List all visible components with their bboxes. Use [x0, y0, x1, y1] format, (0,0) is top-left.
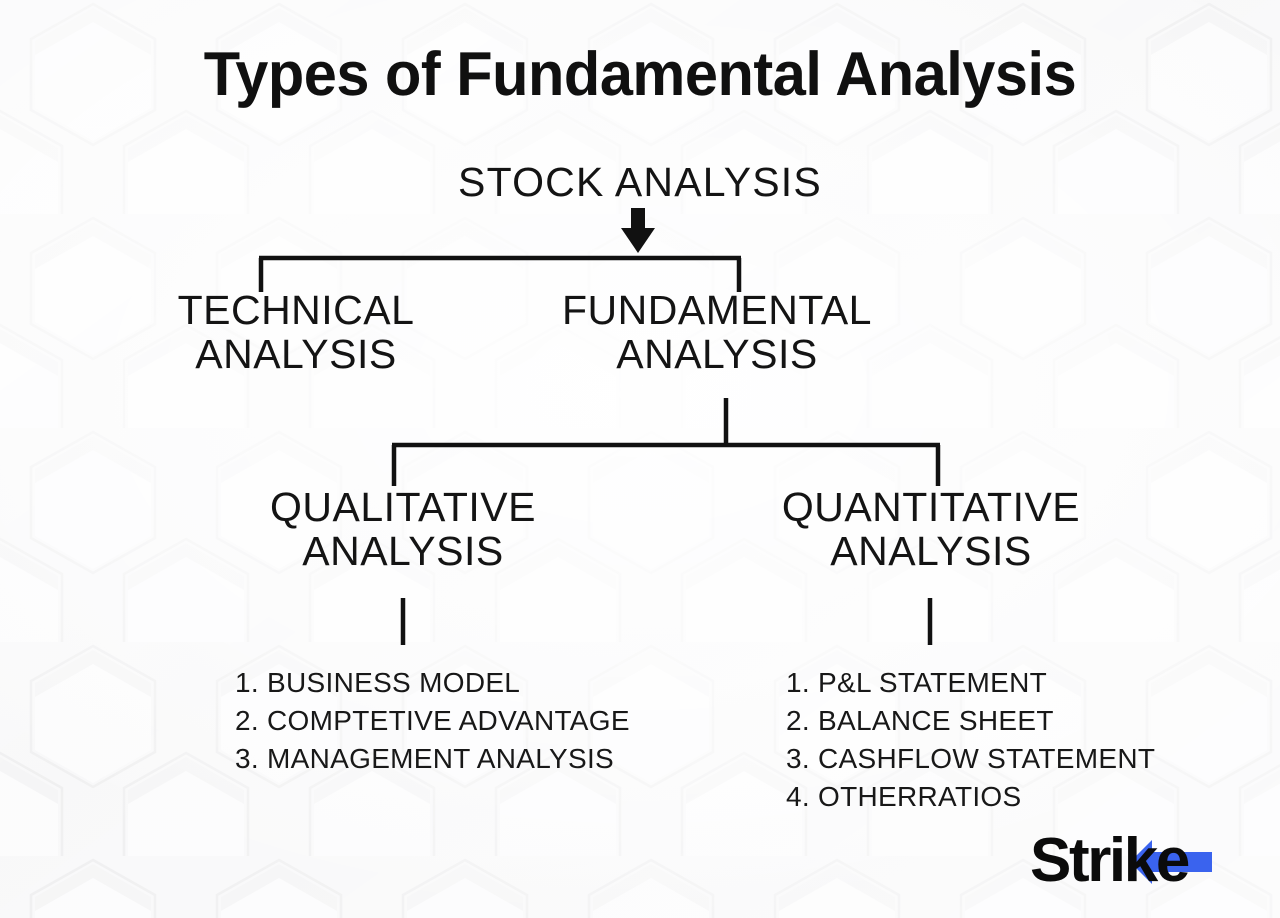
strike-logo: Strike	[1030, 824, 1230, 898]
node-technical-analysis: TECHNICAL ANALYSIS	[128, 288, 464, 377]
list-item: 1. BUSINESS MODEL	[235, 664, 630, 702]
node-qualitative-analysis: QUALITATIVE ANALYSIS	[238, 485, 568, 574]
list-item: 4. OTHERRATIOS	[786, 778, 1155, 816]
node-quantitative-analysis: QUANTITATIVE ANALYSIS	[765, 485, 1097, 574]
list-item: 2. COMPTETIVE ADVANTAGE	[235, 702, 630, 740]
node-fundamental-analysis: FUNDAMENTAL ANALYSIS	[548, 288, 886, 377]
list-item: 3. CASHFLOW STATEMENT	[786, 740, 1155, 778]
list-item: 1. P&L STATEMENT	[786, 664, 1155, 702]
list-item: 2. BALANCE SHEET	[786, 702, 1155, 740]
list-item: 3. MANAGEMENT ANALYSIS	[235, 740, 630, 778]
page-title: Types of Fundamental Analysis	[26, 44, 1255, 106]
node-stock-analysis: STOCK ANALYSIS	[438, 160, 842, 204]
arrow-down-icon	[621, 208, 655, 253]
quantitative-analysis-list: 1. P&L STATEMENT 2. BALANCE SHEET 3. CAS…	[786, 664, 1155, 816]
infographic-canvas: Types of Fundamental Analysis	[0, 0, 1280, 918]
strike-wordmark: Strike	[1030, 824, 1188, 898]
qualitative-analysis-list: 1. BUSINESS MODEL 2. COMPTETIVE ADVANTAG…	[235, 664, 630, 778]
